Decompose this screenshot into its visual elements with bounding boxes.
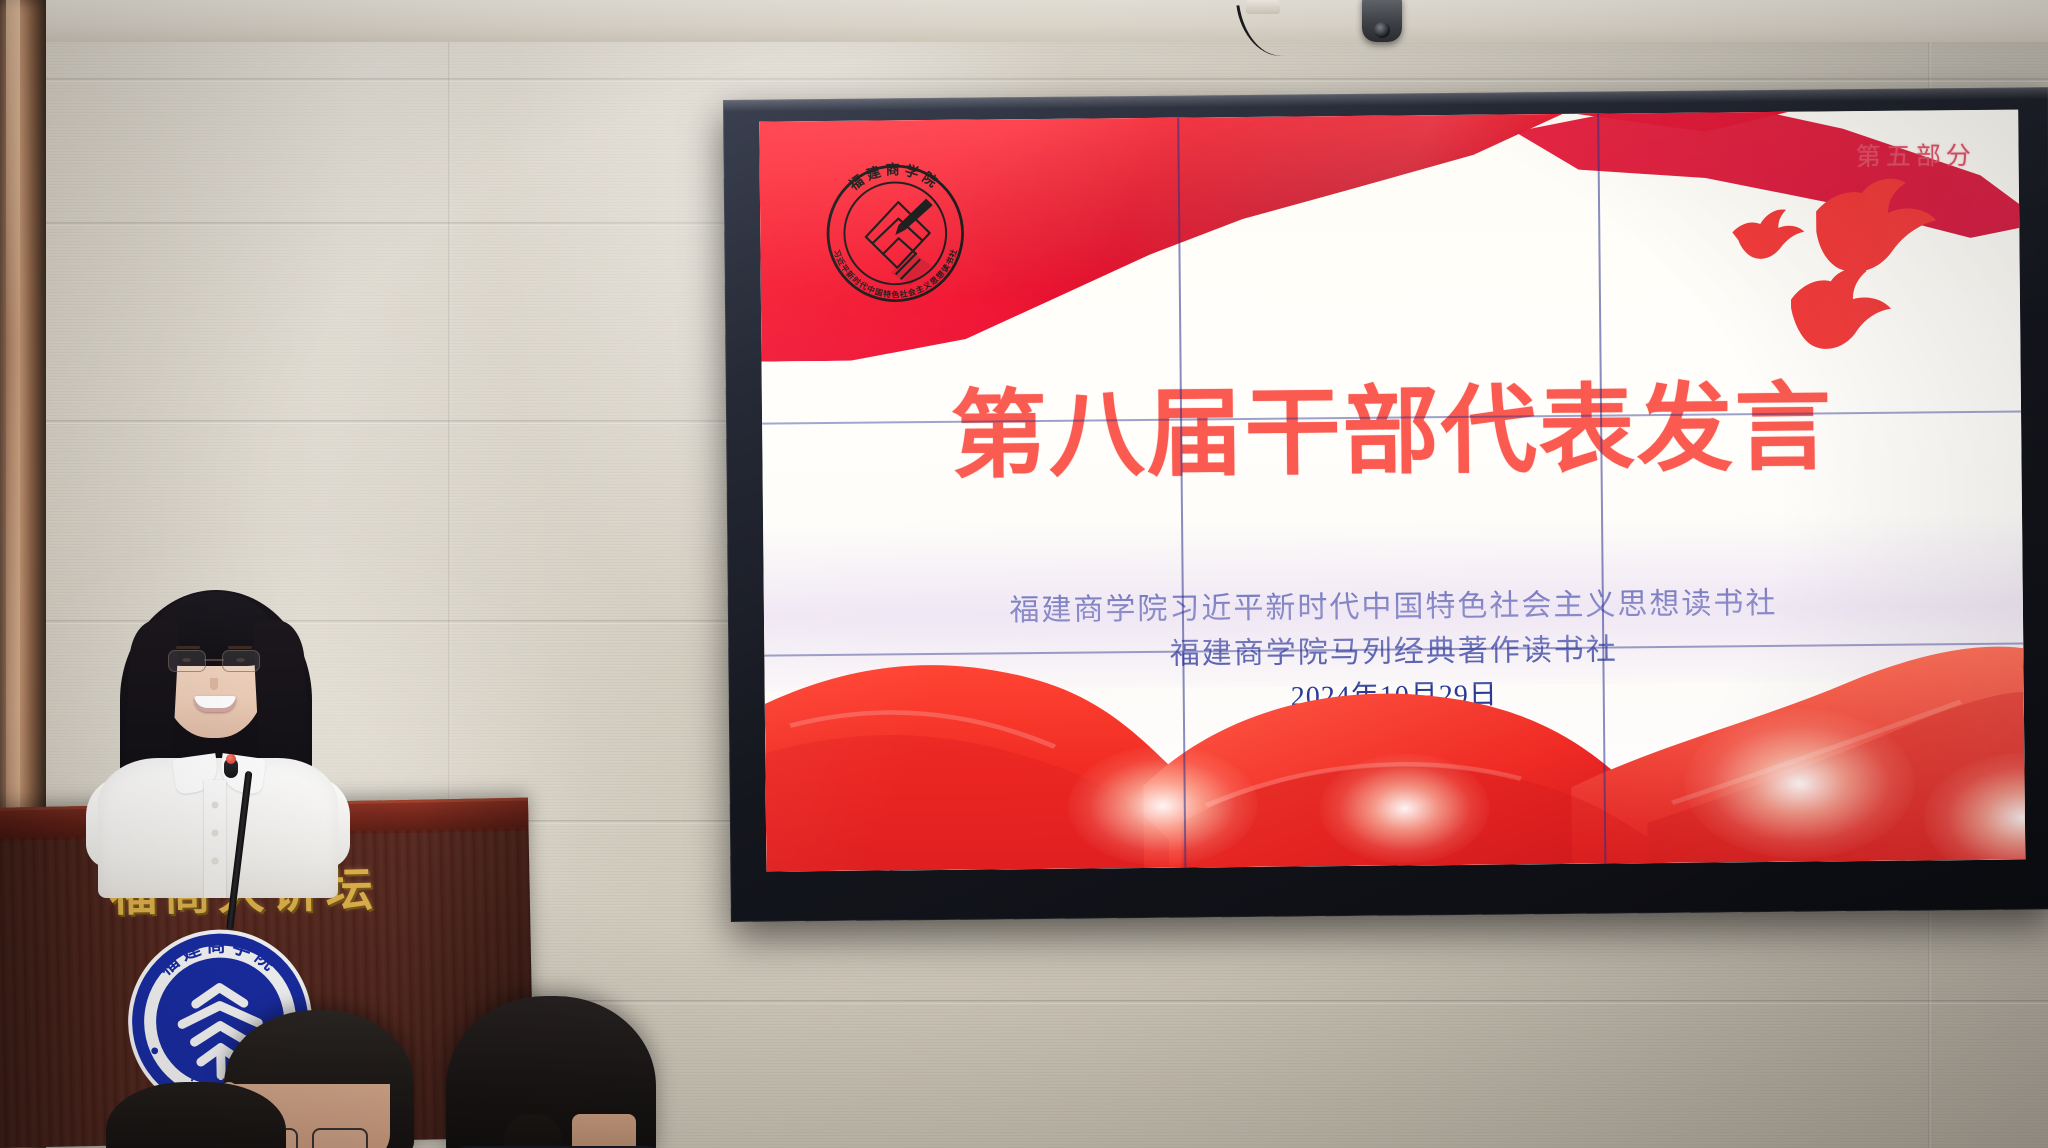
speaker-eyebrow bbox=[228, 646, 252, 649]
ceiling-band bbox=[0, 0, 2048, 42]
slide-part-label: 第五部分 bbox=[1856, 135, 1976, 172]
speaker-smile bbox=[194, 696, 236, 712]
reading-society-seal-icon: 福建商学院 习近平新时代中国特色社会主义思想读书社 bbox=[812, 151, 978, 317]
svg-text:福建商学院: 福建商学院 bbox=[845, 161, 944, 195]
speaker-eyebrow bbox=[176, 646, 200, 649]
dove-icon bbox=[1720, 178, 1952, 340]
speaker-button bbox=[212, 858, 218, 864]
video-wall[interactable]: 福建商学院 习近平新时代中国特色社会主义思想读书社 bbox=[723, 87, 2048, 922]
presentation-slide: 福建商学院 习近平新时代中国特色社会主义思想读书社 bbox=[759, 110, 2025, 872]
conference-hall-photo: 福建商学院 习近平新时代中国特色社会主义思想读书社 bbox=[0, 0, 2048, 1148]
microphone-icon bbox=[226, 770, 236, 930]
speaker-glasses bbox=[168, 650, 260, 670]
microphone-indicator bbox=[226, 754, 236, 764]
speaker-nose bbox=[210, 678, 218, 690]
screen-surface[interactable]: 福建商学院 习近平新时代中国特色社会主义思想读书社 bbox=[759, 110, 2025, 872]
speaker-button bbox=[212, 830, 218, 836]
wall-panel-seam bbox=[0, 78, 2048, 82]
audience-neck bbox=[572, 1114, 636, 1148]
slide-title: 第八届干部代表发言 bbox=[762, 376, 2022, 489]
speaker-button bbox=[212, 802, 218, 808]
speaker-shirt-placket bbox=[204, 780, 226, 898]
audience-hair bbox=[504, 1114, 562, 1148]
security-camera-icon bbox=[1362, 0, 1402, 42]
speaker-at-podium bbox=[78, 580, 358, 880]
